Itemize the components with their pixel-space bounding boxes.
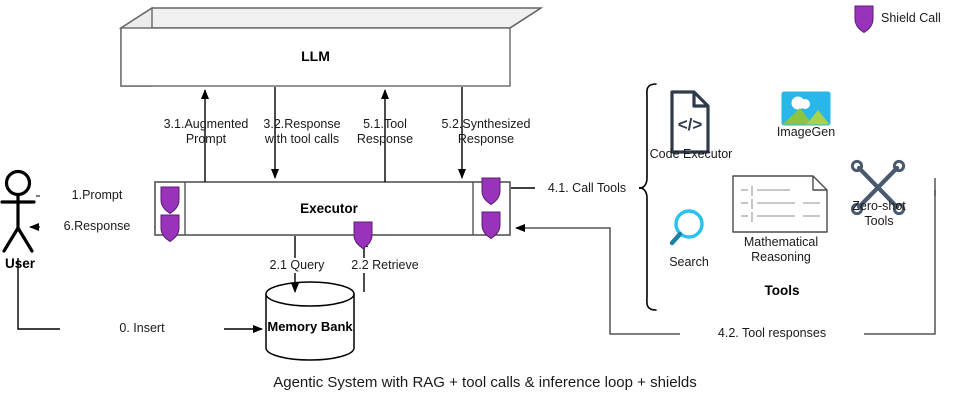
image-icon [782,92,830,125]
svg-text:</>: </> [678,115,703,134]
diagram-vector-layer: </> [0,0,970,411]
tool-label-zero-shot-tools: Zero-shot Tools [836,199,922,229]
edge-insert [18,258,262,329]
formula-document-icon [733,176,827,232]
shield-icon [354,222,372,249]
user-actor [2,172,34,252]
code-document-icon: </> [672,92,708,152]
tool-label-imagegen: ImageGen [770,125,842,140]
tools-group-brace [640,84,656,310]
magnifier-icon [672,211,702,243]
shield-icon [161,215,179,242]
memory-bank-node [266,282,354,360]
shield-icon [855,6,873,33]
diagram-caption: Agentic System with RAG + tool calls & i… [0,374,970,391]
tool-label-search: Search [657,255,721,270]
tool-label-mathematical-reasoning: Mathematical Reasoning [735,235,827,265]
llm-node [121,8,541,86]
executor-node [155,182,510,235]
tool-label-code-executor: Code Executor [645,147,737,162]
diagram-canvas: </> [0,0,970,411]
